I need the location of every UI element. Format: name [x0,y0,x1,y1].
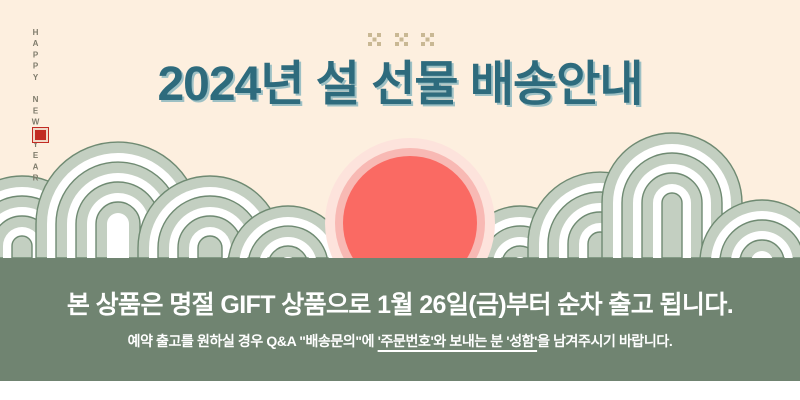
notice-line2-part2: 을 남겨주시기 바랍니다. [537,333,672,349]
notice-line1-part1: 본 상품은 명절 GIFT 상품으로 [67,291,377,319]
ornament-row [368,31,434,47]
notice-line2-part1: 예약 출고를 원하실 경우 Q&A "배송문의"에 [128,333,378,349]
lattice-ornament-icon-1 [368,33,381,46]
red-square-marker [33,128,48,142]
notice-secondary-line: 예약 출고를 원하실 경우 Q&A "배송문의"에 '주문번호'와 보내는 분 … [128,333,673,350]
arch-ring [662,193,682,258]
arch-ring [198,236,222,258]
arch-ring [107,213,129,258]
arch-ring [12,236,32,258]
new-year-delivery-banner: HAPPY NEW YEAR [0,0,800,400]
lattice-ornament-icon-2 [395,33,408,46]
notice-line2-underlined: '주문번호'와 보내는 분 '성함' [378,333,537,349]
notice-line1-part2: 됩니다. [653,291,733,319]
banner-title: 2024년 설 선물 배송안내 [0,55,800,115]
notice-band: 본 상품은 명절 GIFT 상품으로 1월 26일(금)부터 순차 출고 됩니다… [0,258,800,381]
footer-whitespace [0,381,800,400]
notice-line1-emphasis: 1월 26일(금)부터 순차 출고 [377,291,653,319]
sun-decoration [325,138,495,258]
lattice-ornament-icon-3 [421,33,434,46]
banner-stage: HAPPY NEW YEAR [0,0,800,258]
notice-primary-line: 본 상품은 명절 GIFT 상품으로 1월 26일(금)부터 순차 출고 됩니다… [67,290,733,320]
